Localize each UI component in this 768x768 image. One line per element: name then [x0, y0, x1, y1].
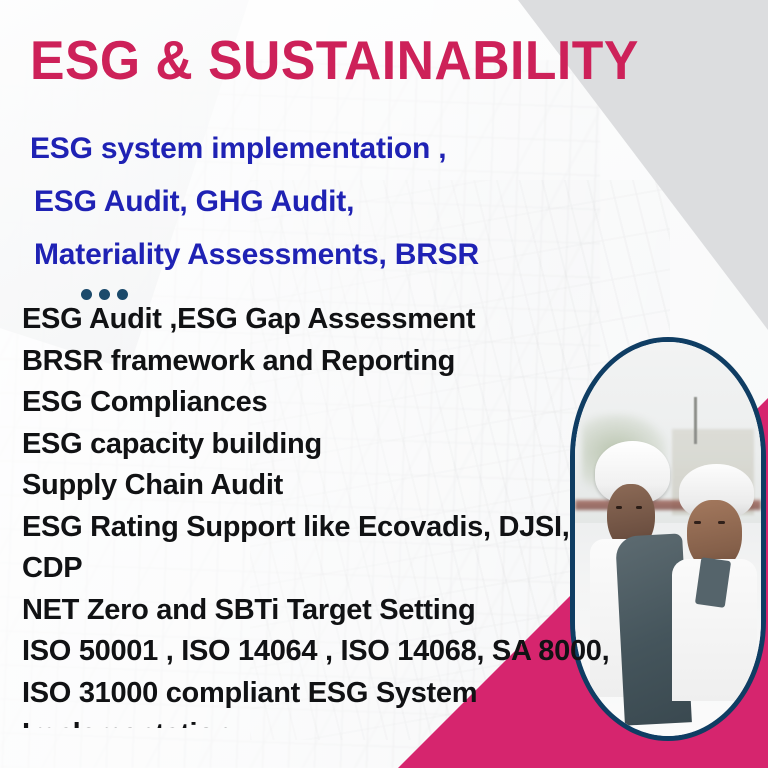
list-item: ESG Rating Support like Ecovadis, DJSI,: [22, 507, 762, 549]
page-title: ESG & SUSTAINABILITY: [30, 33, 639, 88]
services-list: ESG Audit ,ESG Gap Assessment BRSR frame…: [22, 299, 762, 728]
list-item: ESG Compliances: [22, 382, 762, 424]
list-item: ESG capacity building: [22, 424, 762, 466]
esg-sustainability-poster: ESG & SUSTAINABILITY ESG system implemen…: [0, 0, 768, 768]
list-item: Supply Chain Audit: [22, 465, 762, 507]
list-item: BRSR framework and Reporting: [22, 341, 762, 383]
list-item: ISO 50001 , ISO 14064 , ISO 14068, SA 80…: [22, 631, 762, 673]
list-item: Implementation: [22, 714, 762, 728]
subtitle-line-3: Materiality Assessments, BRSR: [30, 228, 730, 281]
list-item: CDP: [22, 548, 762, 590]
list-item: ESG Audit ,ESG Gap Assessment: [22, 299, 762, 341]
list-item: ISO 31000 compliant ESG System: [22, 673, 762, 715]
list-item: NET Zero and SBTi Target Setting: [22, 590, 762, 632]
subtitle-block: ESG system implementation , ESG Audit, G…: [30, 122, 730, 281]
subtitle-line-2: ESG Audit, GHG Audit,: [30, 175, 730, 228]
subtitle-line-1: ESG system implementation ,: [30, 122, 730, 175]
